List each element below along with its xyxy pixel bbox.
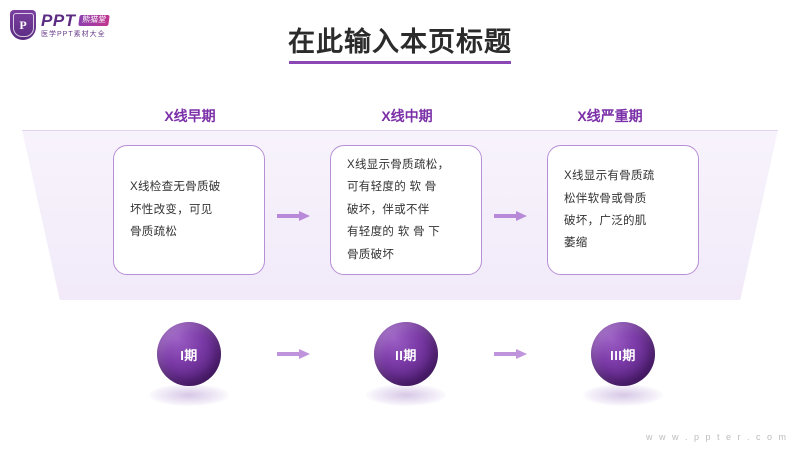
- arrow-bar: [277, 214, 301, 218]
- sphere-label-2: II期: [395, 345, 417, 364]
- arrow-bar: [277, 352, 301, 356]
- stage-card-text-1: X线检查无骨质破 坏性改变，可见 骨质疏松: [130, 176, 221, 243]
- page-title: 在此输入本页标题: [0, 20, 800, 59]
- sphere-shape: II期: [374, 322, 438, 386]
- sphere-shape: I期: [157, 322, 221, 386]
- sphere-shadow: [366, 384, 446, 406]
- title-underline: [289, 61, 511, 64]
- platform-top-edge: [22, 130, 778, 131]
- footer-watermark: w w w . p p t e r . c o m: [646, 432, 788, 442]
- stage-heading-3: X线严重期: [510, 106, 710, 126]
- stage-card-3[interactable]: X线显示有骨质疏 松伴软骨或骨质 破坏，广泛的肌 萎缩: [547, 145, 699, 275]
- sphere-shape: III期: [591, 322, 655, 386]
- stage-sphere-2[interactable]: II期: [366, 322, 446, 414]
- arrow-right-icon-spheres-1: [277, 349, 311, 359]
- arrow-bar: [494, 352, 518, 356]
- arrow-head: [299, 349, 310, 359]
- sphere-shadow: [149, 384, 229, 406]
- arrow-bar: [494, 214, 518, 218]
- arrow-right-icon-cards-2: [494, 211, 528, 221]
- stage-sphere-3[interactable]: III期: [583, 322, 663, 414]
- stage-card-2[interactable]: X线显示骨质疏松， 可有轻度的 软 骨 破坏，伴或不伴 有轻度的 软 骨 下 骨…: [330, 145, 482, 275]
- sphere-label-1: I期: [180, 345, 198, 364]
- stage-card-text-3: X线显示有骨质疏 松伴软骨或骨质 破坏，广泛的肌 萎缩: [564, 165, 655, 255]
- stage-card-text-2: X线显示骨质疏松， 可有轻度的 软 骨 破坏，伴或不伴 有轻度的 软 骨 下 骨…: [347, 154, 449, 266]
- arrow-right-icon-spheres-2: [494, 349, 528, 359]
- stage-sphere-1[interactable]: I期: [149, 322, 229, 414]
- stage-heading-2: X线中期: [307, 106, 507, 126]
- sphere-label-3: III期: [610, 345, 636, 364]
- arrow-head: [299, 211, 310, 221]
- stage-heading-1: X线早期: [90, 106, 290, 126]
- arrow-head: [516, 349, 527, 359]
- arrow-head: [516, 211, 527, 221]
- arrow-right-icon-cards-1: [277, 211, 311, 221]
- stage-card-1[interactable]: X线检查无骨质破 坏性改变，可见 骨质疏松: [113, 145, 265, 275]
- sphere-shadow: [583, 384, 663, 406]
